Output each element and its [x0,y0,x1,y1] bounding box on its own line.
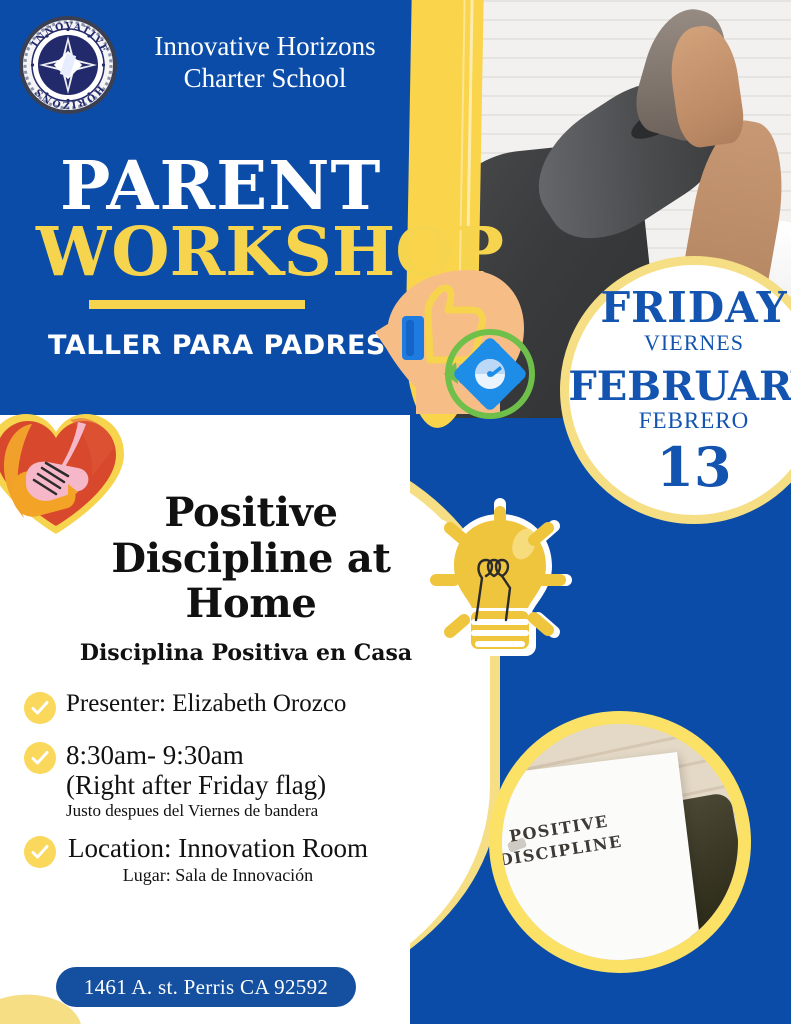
lightbulb-icon [414,492,579,670]
date-day: FRIDAY [600,287,787,329]
presenter-text: Presenter: Elizabeth Orozco [66,690,346,718]
check-circle-icon [24,836,56,868]
headline-spanish: TALLER PARA PADRES [48,330,386,361]
school-logo: INNOVATIVE HORIZONS [19,16,117,114]
list-item-time: 8:30am- 9:30am (Right after Friday flag)… [24,740,454,822]
address-pill: 1461 A. st. Perris CA 92592 [56,967,356,1007]
workshop-title-line1: Positive [96,490,406,536]
head-thumbsup-gear-icon [372,262,547,422]
list-item-location: Location: Innovation Room Lugar: Sala de… [24,834,454,886]
positive-discipline-photo: POSITIVE DISCIPLINE [489,711,751,973]
date-day-spanish: VIERNES [644,330,744,356]
date-day-number: 13 [656,440,731,494]
school-name: Innovative Horizons Charter School [120,30,410,95]
time-block: 8:30am- 9:30am (Right after Friday flag)… [66,740,326,822]
workshop-subtitle-spanish: Disciplina Positiva en Casa [56,640,436,666]
workshop-title-line3: Home [96,581,406,627]
location-text-spanish: Lugar: Sala de Innovación [68,865,368,887]
location-block: Location: Innovation Room Lugar: Sala de… [68,834,368,886]
check-circle-icon [24,742,56,774]
school-name-line1: Innovative Horizons [120,30,410,62]
time-note-spanish: Justo despues del Viernes de bandera [66,801,326,821]
time-note: (Right after Friday flag) [66,770,326,800]
headline-divider [89,300,305,309]
time-text: 8:30am- 9:30am [66,740,326,770]
details-list: Presenter: Elizabeth Orozco 8:30am- 9:30… [24,690,454,902]
date-month-spanish: FEBRERO [639,408,750,434]
school-name-line2: Charter School [120,62,410,94]
workshop-title-line2: Discipline at [96,536,406,582]
date-month: FEBRUARY [568,367,791,407]
flyer-poster: INNOVATIVE HORIZONS Innovative Horizons … [0,0,791,1024]
location-text: Location: Innovation Room [68,834,368,864]
headline-parent: PARENT [60,152,381,219]
list-item-presenter: Presenter: Elizabeth Orozco [24,690,454,724]
check-circle-icon [24,692,56,724]
workshop-title: Positive Discipline at Home [96,490,406,627]
